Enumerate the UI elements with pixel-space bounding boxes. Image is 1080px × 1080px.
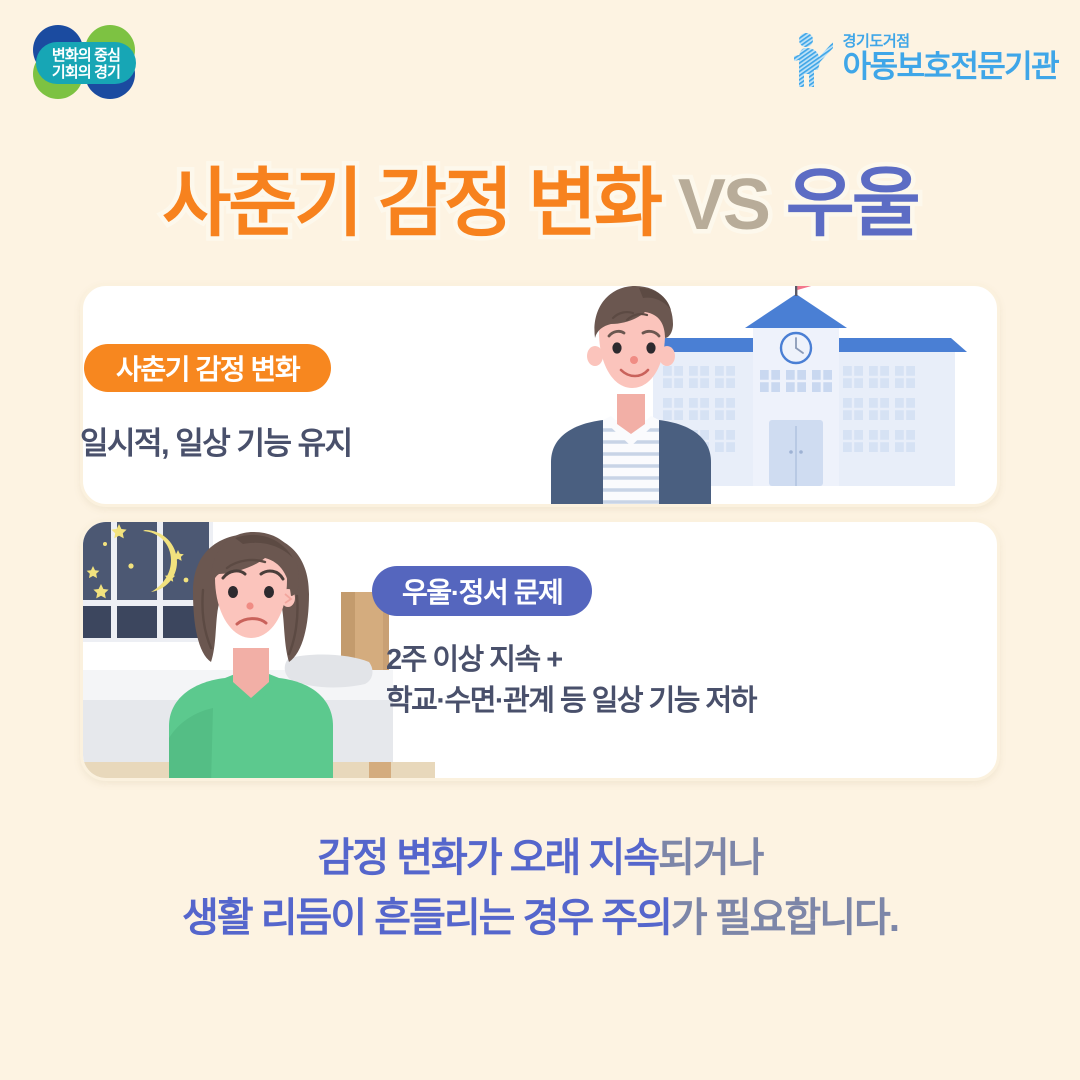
title-part-vs: VS xyxy=(678,165,768,245)
logo-left-text: 변화의 중심 기회의 경기 xyxy=(52,46,120,81)
footer-message: 감정 변화가 오래 지속되거나 생활 리듬이 흔들리는 경우 주의가 필요합니다… xyxy=(0,828,1080,948)
card-1-description: 일시적, 일상 기능 유지 xyxy=(80,418,352,463)
footer-line-1-soft: 되거나 xyxy=(658,836,762,880)
header: 변화의 중심 기회의 경기 경기도거 xyxy=(0,0,1080,120)
sad-girl-in-bed-at-night-illustration xyxy=(83,522,435,781)
striped-person-icon xyxy=(792,30,834,88)
card-adolescent-mood-change xyxy=(80,283,1000,507)
card-2-description: 2주 이상 지속 + 학교·수면·관계 등 일상 기능 저하 xyxy=(386,640,756,722)
night-window xyxy=(83,522,213,642)
gyeonggi-province-logo[interactable]: 변화의 중심 기회의 경기 xyxy=(22,24,152,100)
svg-text:기회의 경기: 기회의 경기 xyxy=(52,63,120,81)
pill-adolescent-mood-change: 사춘기 감정 변화 xyxy=(84,344,331,392)
footer-line-2-strong: 생활 리듬이 흔들리는 경우 주의 xyxy=(182,896,671,940)
title-part-blue: 우울 xyxy=(786,161,918,245)
pill-depression-emotional-problem: 우울·정서 문제 xyxy=(372,566,592,616)
title-part-orange: 사춘기 감정 변화 xyxy=(162,161,660,245)
footer-line-2-soft: 가 필요합니다. xyxy=(671,896,898,940)
page-title: 사춘기 감정 변화 VS 우울 xyxy=(0,142,1080,251)
svg-text:변화의 중심: 변화의 중심 xyxy=(52,46,120,64)
smiling-boy-in-front-of-school-illustration xyxy=(547,283,997,504)
footer-line-2: 생활 리듬이 흔들리는 경우 주의가 필요합니다. xyxy=(0,888,1080,948)
card-2-description-line-1: 2주 이상 지속 + xyxy=(386,640,756,681)
footer-line-1: 감정 변화가 오래 지속되거나 xyxy=(0,828,1080,888)
agency-name: 아동보호전문기관 xyxy=(843,51,1058,84)
footer-line-1-strong: 감정 변화가 오래 지속 xyxy=(318,836,659,880)
agency-subtitle: 경기도거점 xyxy=(843,34,1058,51)
child-protection-agency-logo[interactable]: 경기도거점 아동보호전문기관 xyxy=(792,26,1058,92)
school-flag xyxy=(797,283,813,290)
card-2-description-line-2: 학교·수면·관계 등 일상 기능 저하 xyxy=(386,681,756,722)
